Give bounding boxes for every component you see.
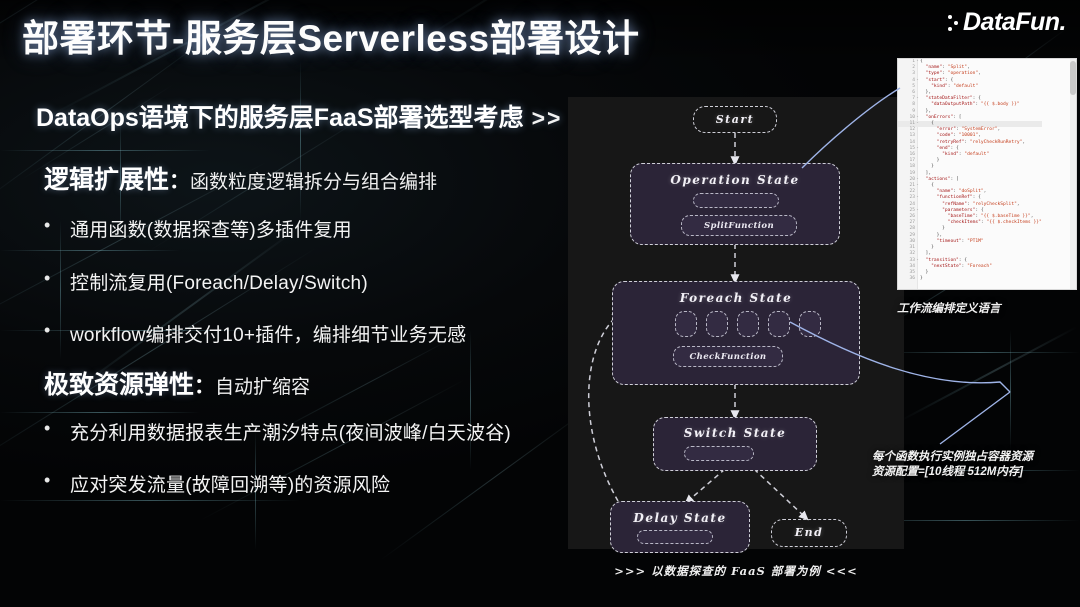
bullet-text: 应对突发流量(故障回溯等)的资源风险 (70, 470, 390, 497)
operation-slot (693, 193, 779, 208)
bullet-item: •充分利用数据报表生产潮汐特点(夜间波峰/白天波谷) (44, 418, 511, 445)
bullet-item: •通用函数(数据探查等)多插件复用 (44, 215, 352, 242)
code-caption: 工作流编排定义语言 (897, 300, 1001, 316)
node-foreach[interactable]: Foreach StateCheckFunction (612, 281, 860, 385)
operation-function-label: SplitFunction (682, 221, 796, 231)
bullet-text: 控制流复用(Foreach/Delay/Switch) (70, 268, 368, 295)
node-start[interactable]: Start (693, 106, 777, 133)
edge-switch-to-end (754, 469, 805, 517)
foreach-slot (768, 311, 790, 337)
code-lines: 1-{2 "name": "Split",3 "type": "operatio… (898, 59, 1042, 282)
section-heading-lead: 逻辑扩展性 (44, 166, 169, 194)
bullet-dot-icon: • (44, 470, 70, 491)
workflow-diagram: StartOperation StateSplitFunctionForeach… (568, 97, 904, 549)
bullet-text: workflow编排交付10+插件，编排细节业务无感 (70, 320, 466, 347)
bullet-item: •控制流复用(Foreach/Delay/Switch) (44, 268, 368, 295)
switch-slot (684, 446, 754, 461)
bullet-text: 充分利用数据报表生产潮汐特点(夜间波峰/白天波谷) (70, 418, 511, 445)
node-switch-label: Switch State (654, 426, 816, 440)
node-foreach-label: Foreach State (613, 291, 859, 305)
foreach-function-box[interactable]: CheckFunction (673, 346, 783, 367)
section-heading: 极致资源弹性：自动扩缩容 (44, 365, 310, 401)
delay-slot (637, 530, 713, 544)
logo-text: DataFun. (963, 8, 1066, 37)
bullet-item: •应对突发流量(故障回溯等)的资源风险 (44, 470, 390, 497)
logo-dot (948, 21, 952, 25)
page-subtitle-text: DataOps语境下的服务层FaaS部署选型考虑 (36, 104, 524, 132)
section-heading: 逻辑扩展性：函数粒度逻辑拆分与组合编排 (44, 160, 437, 196)
subtitle-arrows: >> (524, 105, 563, 131)
logo-dot (954, 27, 958, 31)
node-switch[interactable]: Switch State (653, 417, 817, 471)
section-heading-colon: ： (194, 375, 215, 398)
page-title: 部署环节-服务层Serverless部署设计 (22, 8, 640, 62)
logo-dots-icon (948, 15, 958, 31)
code-line: 14 "retryRef": "relyCheckRunRetry", (898, 140, 1042, 146)
code-panel[interactable]: 1-{2 "name": "Split",3 "type": "operatio… (897, 58, 1077, 290)
logo-dot (948, 27, 952, 31)
section-heading-colon: ： (169, 170, 190, 193)
section-heading-tail: 自动扩缩容 (215, 377, 310, 398)
bullet-text: 通用函数(数据探查等)多插件复用 (70, 215, 352, 242)
diagram-caption: >>> 以数据探查的 FaaS 部署为例 <<< (568, 563, 904, 579)
code-scrollbar-thumb[interactable] (1070, 61, 1076, 95)
foreach-function-label: CheckFunction (674, 352, 782, 362)
logo-dot (954, 15, 958, 19)
code-line-source: } (920, 276, 1042, 282)
node-end-label: End (772, 526, 846, 539)
foreach-slot (799, 311, 821, 337)
bullet-dot-icon: • (44, 320, 70, 341)
code-scrollbar[interactable] (1070, 59, 1076, 289)
resource-note-line2: 资源配置=[10线程 512M内存] (872, 465, 1080, 480)
edge-switch-to-delay (688, 469, 725, 501)
node-end[interactable]: End (771, 519, 847, 547)
node-delay[interactable]: Delay State (610, 501, 750, 553)
bullet-dot-icon: • (44, 215, 70, 236)
node-start-label: Start (694, 113, 776, 126)
operation-function-box[interactable]: SplitFunction (681, 215, 797, 236)
section-heading-tail: 函数粒度逻辑拆分与组合编排 (190, 172, 437, 193)
foreach-slot (675, 311, 697, 337)
logo-dot (954, 21, 958, 25)
logo-dot (948, 15, 952, 19)
foreach-slot (706, 311, 728, 337)
resource-note: 每个函数执行实例独占容器资源 资源配置=[10线程 512M内存] (872, 450, 1080, 480)
bullet-dot-icon: • (44, 268, 70, 289)
resource-note-line1: 每个函数执行实例独占容器资源 (872, 450, 1080, 465)
code-line-number: 36 (898, 276, 915, 282)
foreach-slot (737, 311, 759, 337)
node-delay-label: Delay State (611, 511, 749, 525)
bullet-item: •workflow编排交付10+插件，编排细节业务无感 (44, 320, 466, 347)
section-heading-lead: 极致资源弹性 (44, 371, 194, 399)
bullet-dot-icon: • (44, 418, 70, 439)
code-line: 36} (898, 276, 1042, 282)
page-subtitle: DataOps语境下的服务层FaaS部署选型考虑>> (36, 98, 562, 134)
node-operation-label: Operation State (631, 173, 839, 187)
node-operation[interactable]: Operation StateSplitFunction (630, 163, 840, 245)
datafun-logo: DataFun. (948, 8, 1066, 37)
slide-root: 部署环节-服务层Serverless部署设计 DataOps语境下的服务层Faa… (0, 0, 1080, 607)
